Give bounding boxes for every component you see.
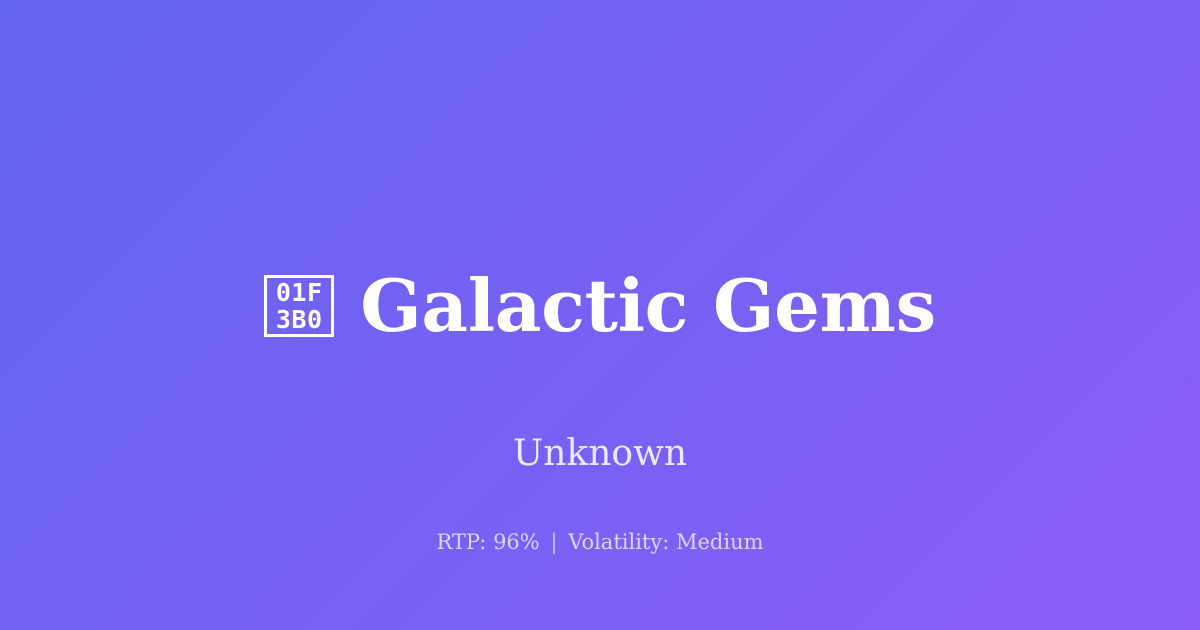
title-row: 01F 3B0 Galactic Gems [264, 222, 936, 390]
hero-block: 01F 3B0 Galactic Gems Unknown [0, 222, 1200, 472]
rtp-label: RTP: [436, 530, 486, 554]
volatility-label: Volatility: [568, 530, 669, 554]
card-subtitle: Unknown [513, 436, 687, 472]
card-footer-meta: RTP: 96% | Volatility: Medium [0, 529, 1200, 555]
volatility-value: Medium [676, 530, 764, 554]
footer-separator: | [546, 530, 561, 554]
rtp-value: 96% [493, 530, 540, 554]
tofu-codepoint-bottom: 3B0 [276, 306, 323, 333]
og-share-card: 01F 3B0 Galactic Gems Unknown RTP: 96% |… [0, 0, 1200, 630]
tofu-codepoint-top: 01F [276, 279, 323, 306]
page-title: Galactic Gems [360, 270, 936, 342]
slot-machine-icon: 01F 3B0 [264, 275, 334, 337]
